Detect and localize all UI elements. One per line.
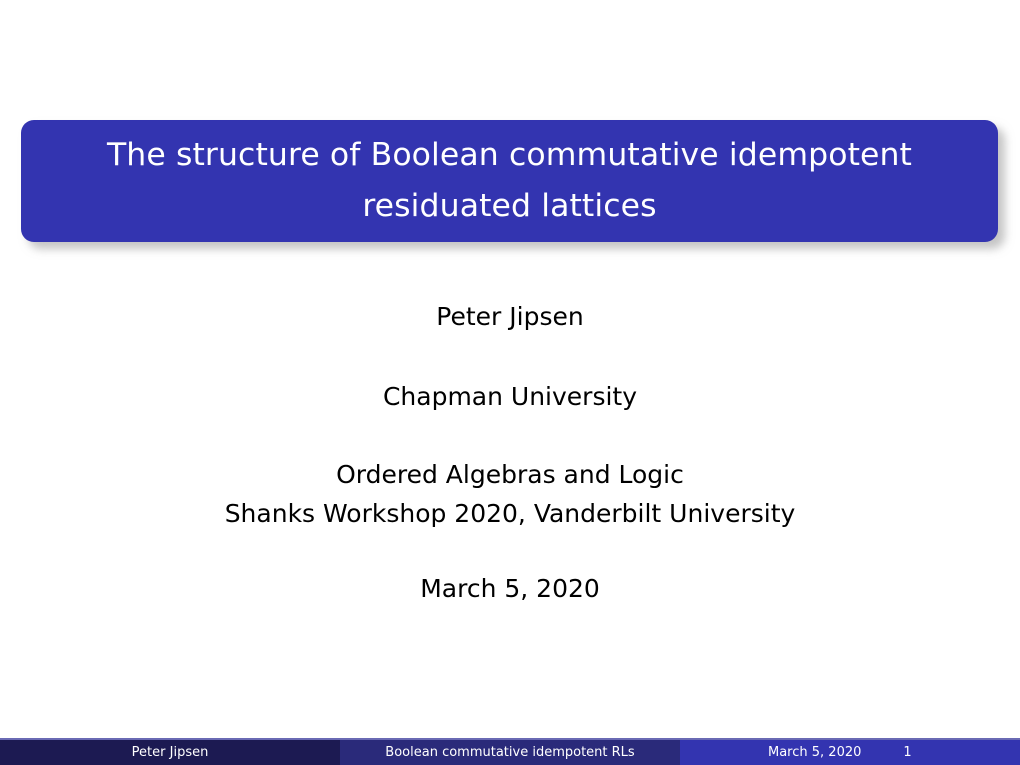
footline: Peter Jipsen Boolean commutative idempot… <box>0 738 1020 765</box>
title-slide-body: Peter Jipsen Chapman University Ordered … <box>0 290 1020 608</box>
slide-canvas: The structure of Boolean commutative ide… <box>0 0 1020 765</box>
event-line-1: Ordered Algebras and Logic <box>0 455 1020 494</box>
footline-page-number: 1 <box>903 745 911 760</box>
event-line-2: Shanks Workshop 2020, Vanderbilt Univers… <box>0 494 1020 533</box>
event-info: Ordered Algebras and Logic Shanks Worksh… <box>0 455 1020 533</box>
title-block: The structure of Boolean commutative ide… <box>21 120 998 242</box>
footline-title-segment: Boolean commutative idempotent RLs <box>340 740 680 765</box>
institute-name: Chapman University <box>0 378 1020 416</box>
presentation-date: March 5, 2020 <box>0 570 1020 608</box>
footline-date-label: March 5, 2020 <box>768 745 861 760</box>
slide-title: The structure of Boolean commutative ide… <box>55 130 964 232</box>
footline-date-segment: March 5, 2020 1 <box>680 740 1020 765</box>
footline-author-segment: Peter Jipsen <box>0 740 340 765</box>
author-name: Peter Jipsen <box>0 298 1020 336</box>
footline-author-label: Peter Jipsen <box>132 745 209 760</box>
footline-title-label: Boolean commutative idempotent RLs <box>385 745 634 760</box>
